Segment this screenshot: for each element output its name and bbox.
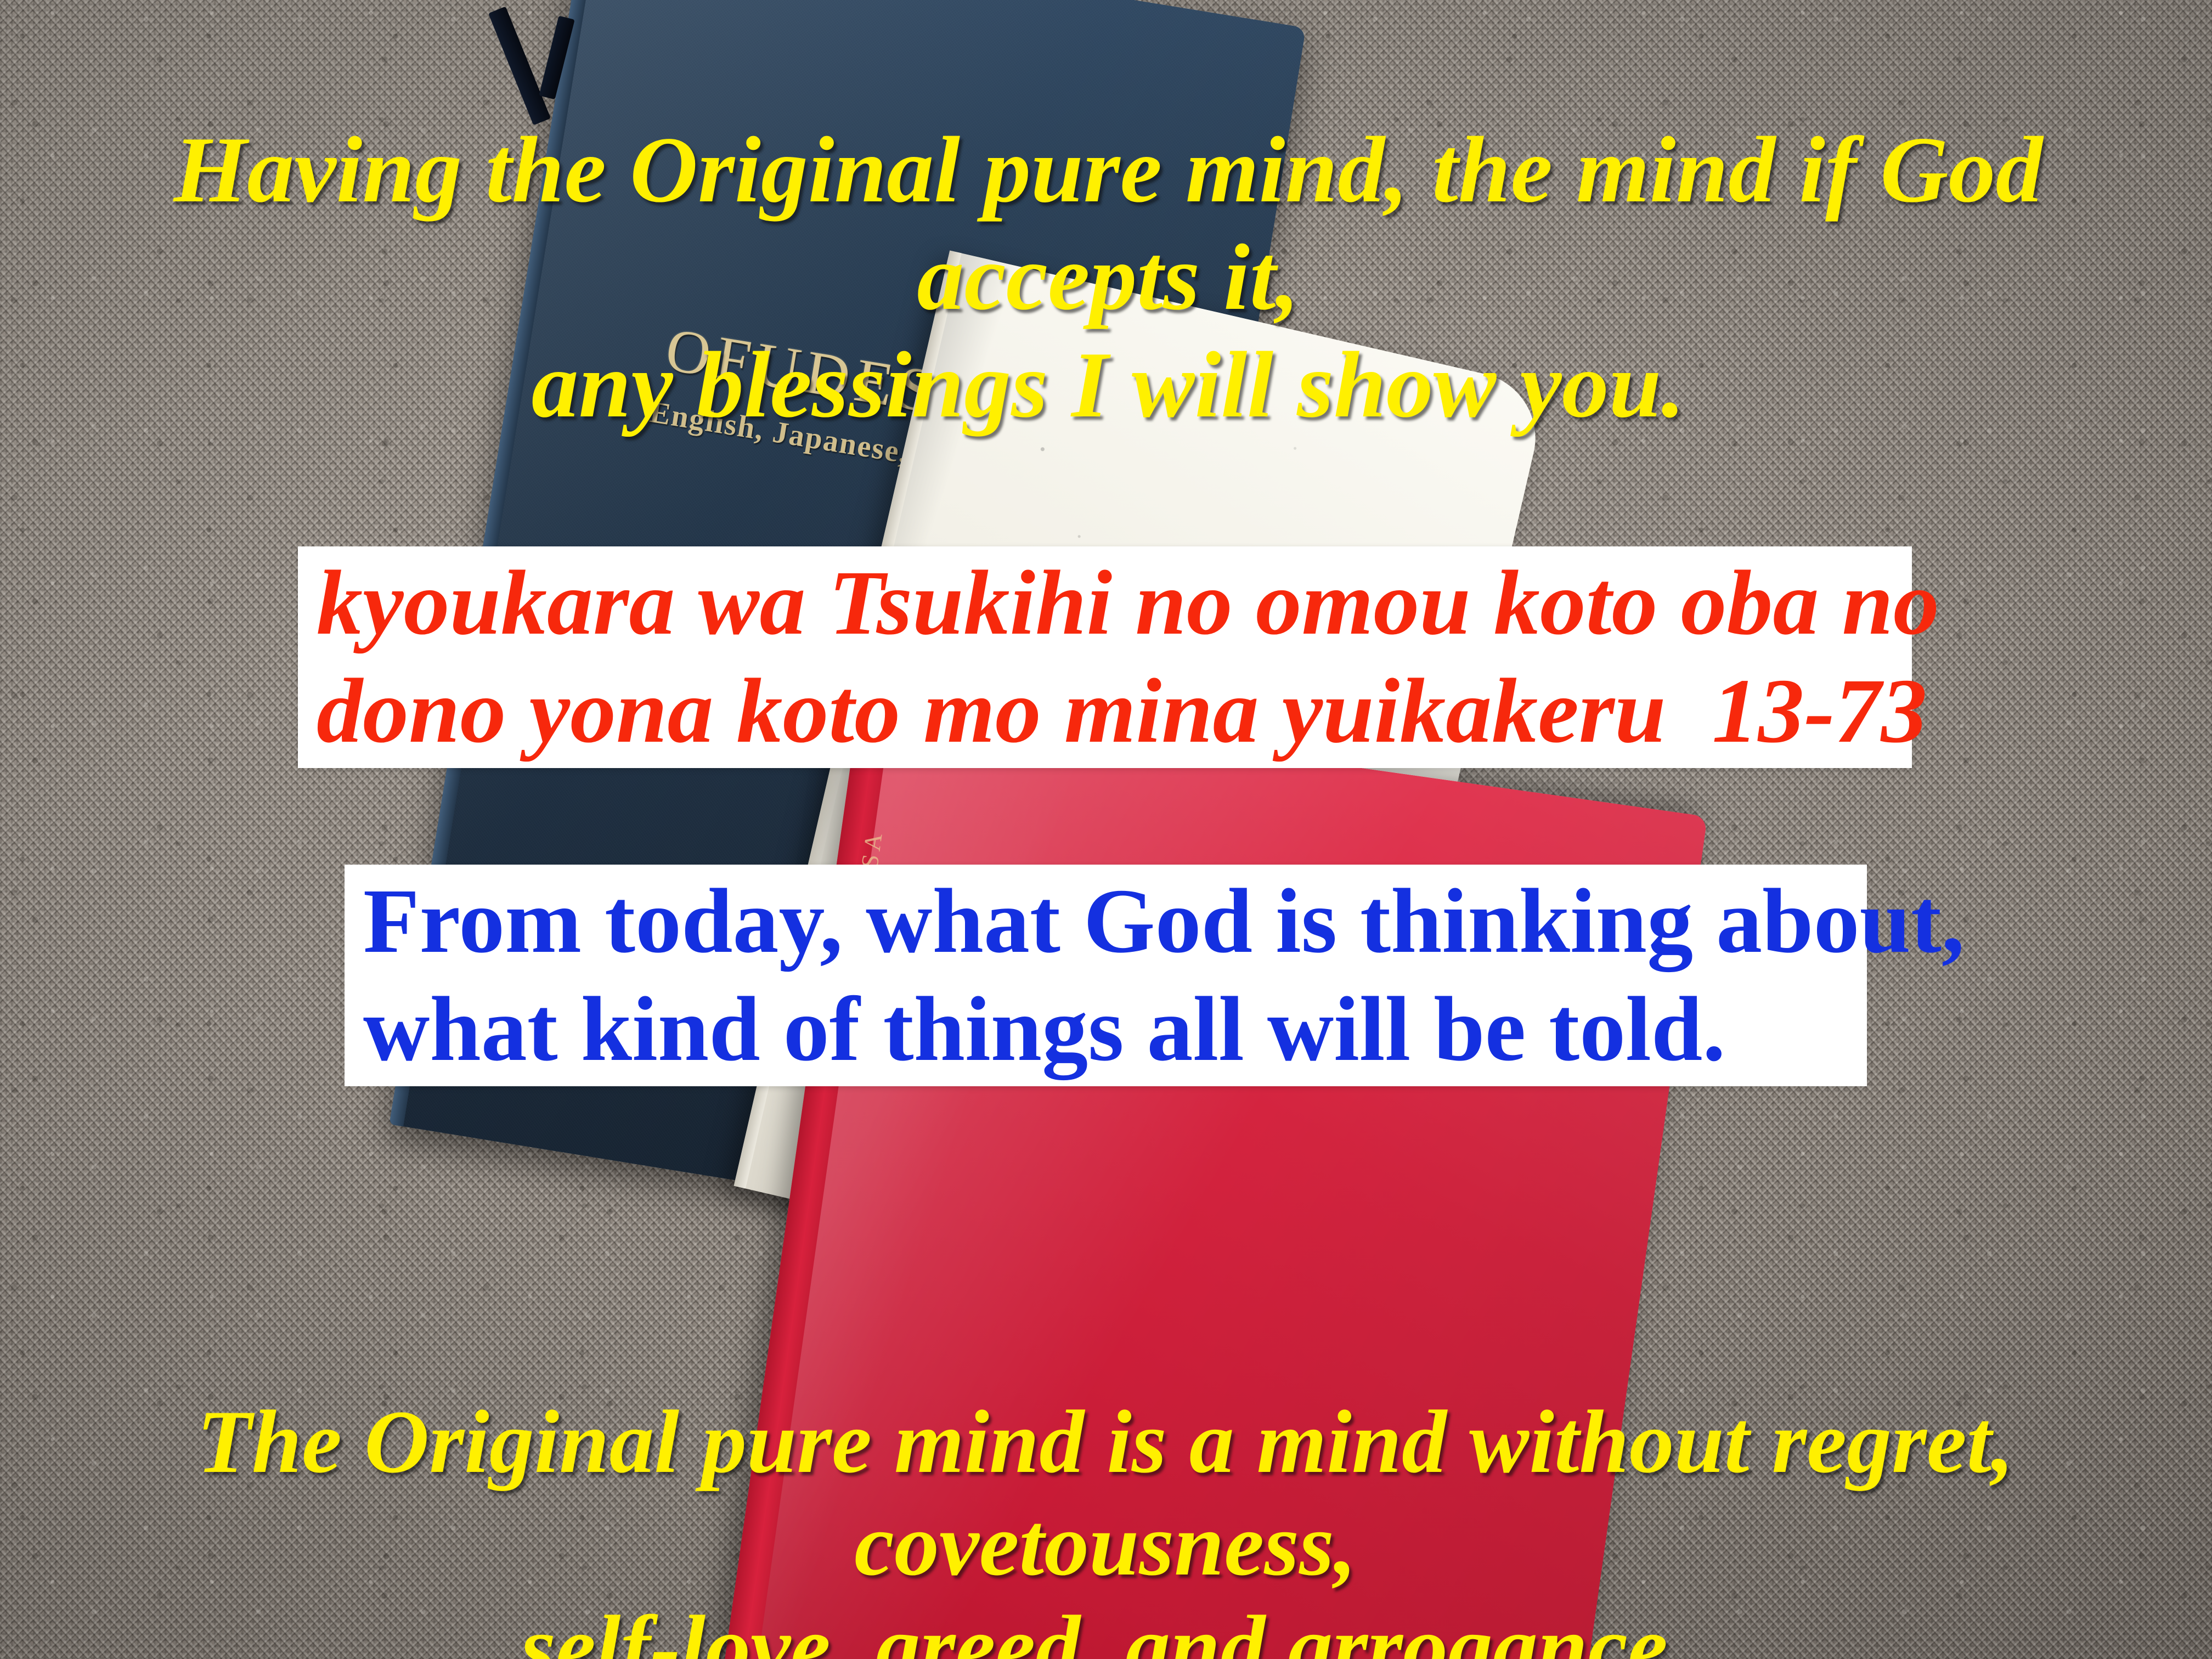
caption-bottom-yellow: The Original pure mind is a mind without… [11, 1391, 2200, 1659]
english-line-1: From today, what God is thinking about, [363, 867, 1867, 975]
english-line-2: what kind of things all will be told. [363, 975, 1867, 1084]
caption-card-romaji: kyoukara wa Tsukihi no omou koto oba no … [298, 546, 1912, 768]
caption-card-english: From today, what God is thinking about, … [345, 865, 1867, 1086]
caption-top-yellow: Having the Original pure mind, the mind … [33, 116, 2183, 439]
romaji-line-1: kyoukara wa Tsukihi no omou koto oba no [317, 549, 1912, 657]
slide-canvas: OFUDESAKI English, Japanese, and Roma UD… [0, 0, 2212, 1659]
romaji-line-2: dono yona koto mo mina yuikakeru 13-73 [317, 657, 1912, 765]
